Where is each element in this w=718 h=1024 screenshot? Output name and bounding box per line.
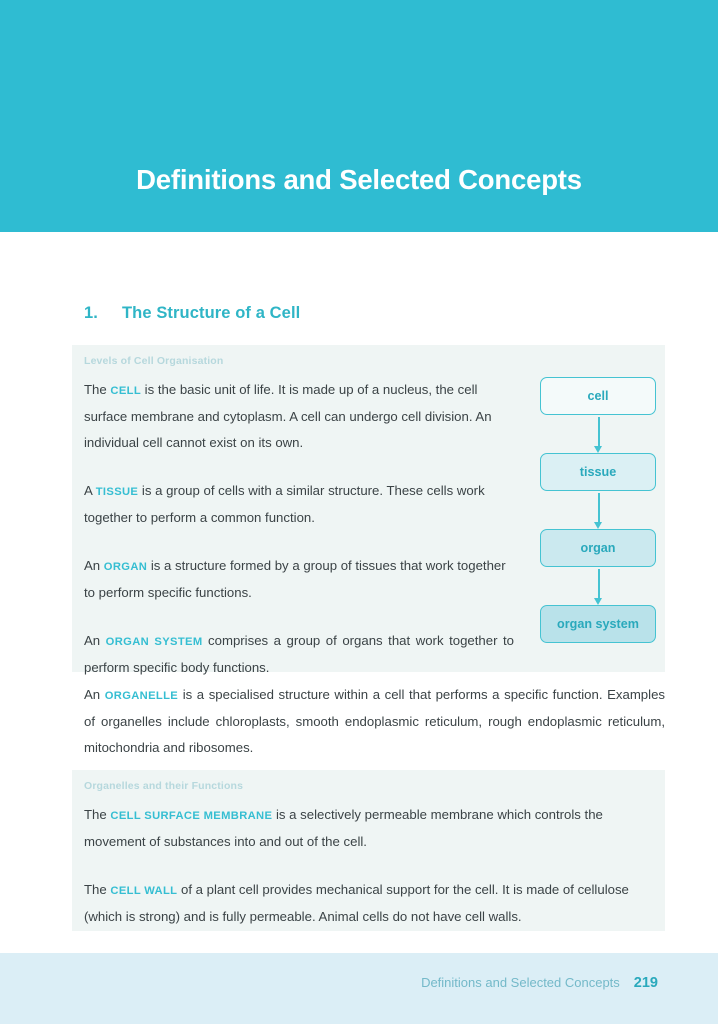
paragraph-organ-system: An ORGAN SYSTEM comprises a group of org… (84, 628, 514, 681)
paragraph-rest: is a group of cells with a similar struc… (84, 483, 485, 525)
panel-organelles-and-their-functions: Organelles and their Functions The CELL … (72, 770, 665, 931)
key-term-cell: CELL (110, 385, 141, 397)
cell-organisation-flow-diagram: cell tissue organ organ system (540, 377, 658, 659)
paragraph-rest: is a structure formed by a group of tiss… (84, 558, 506, 600)
organelles-text-column: The CELL SURFACE MEMBRANE is a selective… (84, 802, 665, 930)
key-term-cell-wall: CELL WALL (110, 885, 177, 897)
paragraph-organ: An ORGAN is a structure formed by a grou… (84, 553, 514, 606)
paragraph-rest: is the basic unit of life. It is made up… (84, 382, 492, 450)
key-term-organ-system: ORGAN SYSTEM (106, 636, 203, 648)
flow-arrow-down-icon (598, 417, 600, 447)
paragraph-lead: A (84, 483, 96, 498)
key-term-organelle: ORGANELLE (105, 690, 178, 702)
paragraph-lead: An (84, 558, 104, 573)
paragraph-cell: The CELL is the basic unit of life. It i… (84, 377, 514, 456)
page-title: Definitions and Selected Concepts (0, 164, 718, 196)
header-band: Definitions and Selected Concepts (0, 0, 718, 232)
flow-box-tissue: tissue (540, 453, 656, 491)
footer-content: Definitions and Selected Concepts 219 (421, 975, 658, 991)
key-term-tissue: TISSUE (96, 486, 139, 498)
footer-page-number: 219 (634, 975, 658, 991)
paragraph-lead: An (84, 633, 106, 648)
panel-label: Levels of Cell Organisation (84, 355, 223, 367)
section-title: The Structure of a Cell (122, 304, 300, 322)
footer-title: Definitions and Selected Concepts (421, 975, 620, 990)
key-term-organ: ORGAN (104, 561, 147, 573)
key-term-cell-surface-membrane: CELL SURFACE MEMBRANE (110, 810, 272, 822)
organelle-paragraph-block: An ORGANELLE is a specialised structure … (84, 682, 665, 761)
levels-text-column: The CELL is the basic unit of life. It i… (84, 377, 514, 681)
paragraph-tissue: A TISSUE is a group of cells with a simi… (84, 478, 514, 531)
flow-box-organ: organ (540, 529, 656, 567)
paragraph-organelle: An ORGANELLE is a specialised structure … (84, 682, 665, 761)
flow-arrow-down-icon (598, 569, 600, 599)
panel-levels-of-cell-organisation: Levels of Cell Organisation The CELL is … (72, 345, 665, 672)
panel-label: Organelles and their Functions (84, 780, 243, 792)
section-number: 1. (84, 304, 122, 323)
footer-band: Definitions and Selected Concepts 219 (0, 953, 718, 1024)
flow-box-cell: cell (540, 377, 656, 415)
paragraph-lead: The (84, 382, 110, 397)
paragraph-lead: The (84, 807, 110, 822)
flow-arrow-down-icon (598, 493, 600, 523)
paragraph-lead: The (84, 882, 110, 897)
paragraph-cell-wall: The CELL WALL of a plant cell provides m… (84, 877, 665, 930)
flow-box-organ-system: organ system (540, 605, 656, 643)
paragraph-lead: An (84, 687, 105, 702)
section-heading: 1.The Structure of a Cell (84, 304, 300, 323)
paragraph-cell-surface-membrane: The CELL SURFACE MEMBRANE is a selective… (84, 802, 665, 855)
page-body: 1.The Structure of a Cell Levels of Cell… (0, 232, 718, 953)
